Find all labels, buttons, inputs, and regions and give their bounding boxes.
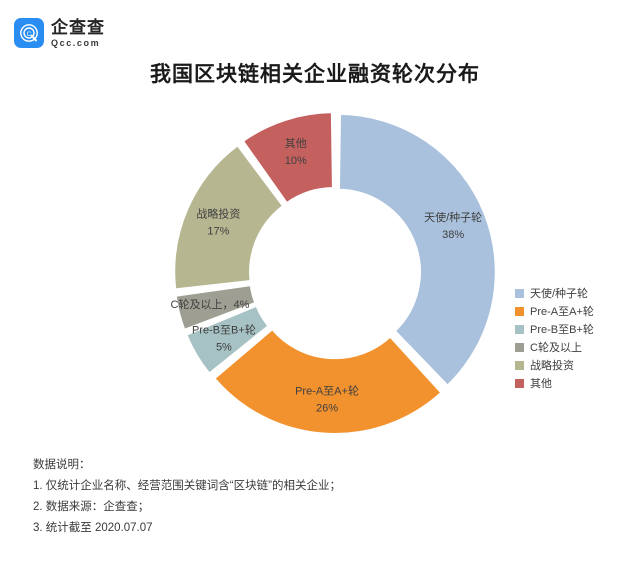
legend-swatch-icon xyxy=(515,343,524,352)
donut-chart: 天使/种子轮38%Pre-A至A+轮26%Pre-B至B+轮5%C轮及以上，4%… xyxy=(150,105,520,445)
footnote-heading: 数据说明： xyxy=(33,455,593,476)
legend-swatch-icon xyxy=(515,325,524,334)
qcc-logo-icon: C xyxy=(14,18,44,48)
legend-item-label: Pre-A至A+轮 xyxy=(530,303,594,319)
brand-domain: Qcc.com xyxy=(51,39,105,48)
donut-slice-label: Pre-B至B+轮 xyxy=(192,323,256,337)
brand-logo: C 企查查 Qcc.com xyxy=(14,18,105,48)
chart-title: 我国区块链相关企业融资轮次分布 xyxy=(0,58,630,88)
footnote-line: 2. 数据来源：企查查； xyxy=(33,497,593,518)
svg-text:C: C xyxy=(27,31,32,38)
legend-item[interactable]: 其他 xyxy=(515,374,625,392)
legend-swatch-icon xyxy=(515,307,524,316)
legend-item-label: Pre-B至B+轮 xyxy=(530,321,594,337)
donut-slice-value: 26% xyxy=(316,403,338,415)
donut-slice-value: 5% xyxy=(216,342,232,354)
chart-legend: 天使/种子轮Pre-A至A+轮Pre-B至B+轮C轮及以上战略投资其他 xyxy=(515,284,625,392)
legend-item[interactable]: C轮及以上 xyxy=(515,338,625,356)
footnotes: 数据说明： 1. 仅统计企业名称、经营范围关键词含“区块链”的相关企业； 2. … xyxy=(33,455,593,539)
legend-item[interactable]: Pre-B至B+轮 xyxy=(515,320,625,338)
legend-swatch-icon xyxy=(515,361,524,370)
donut-slice-value: 17% xyxy=(207,225,229,237)
donut-slice-label: C轮及以上，4% xyxy=(171,297,250,311)
legend-item[interactable]: 战略投资 xyxy=(515,356,625,374)
donut-slice-value: 10% xyxy=(285,155,307,167)
legend-swatch-icon xyxy=(515,289,524,298)
legend-item-label: C轮及以上 xyxy=(530,339,582,355)
footnote-line: 1. 仅统计企业名称、经营范围关键词含“区块链”的相关企业； xyxy=(33,476,593,497)
legend-swatch-icon xyxy=(515,379,524,388)
legend-item-label: 战略投资 xyxy=(530,357,574,373)
donut-chart-svg: 天使/种子轮38%Pre-A至A+轮26%Pre-B至B+轮5%C轮及以上，4%… xyxy=(150,105,520,445)
legend-item-label: 天使/种子轮 xyxy=(530,285,588,301)
donut-slice-value: 38% xyxy=(442,229,464,241)
brand-name: 企查查 xyxy=(51,19,105,36)
legend-item[interactable]: 天使/种子轮 xyxy=(515,284,625,302)
donut-slice-label: 天使/种子轮 xyxy=(424,210,482,224)
brand-text: 企查查 Qcc.com xyxy=(51,19,105,48)
legend-item-label: 其他 xyxy=(530,375,552,391)
donut-slice xyxy=(339,114,496,386)
legend-item[interactable]: Pre-A至A+轮 xyxy=(515,302,625,320)
donut-slice-label: Pre-A至A+轮 xyxy=(295,384,359,398)
donut-slice-label: 战略投资 xyxy=(196,206,240,220)
donut-slice-label: 其他 xyxy=(285,137,307,150)
footnote-line: 3. 统计截至 2020.07.07 xyxy=(33,518,593,539)
